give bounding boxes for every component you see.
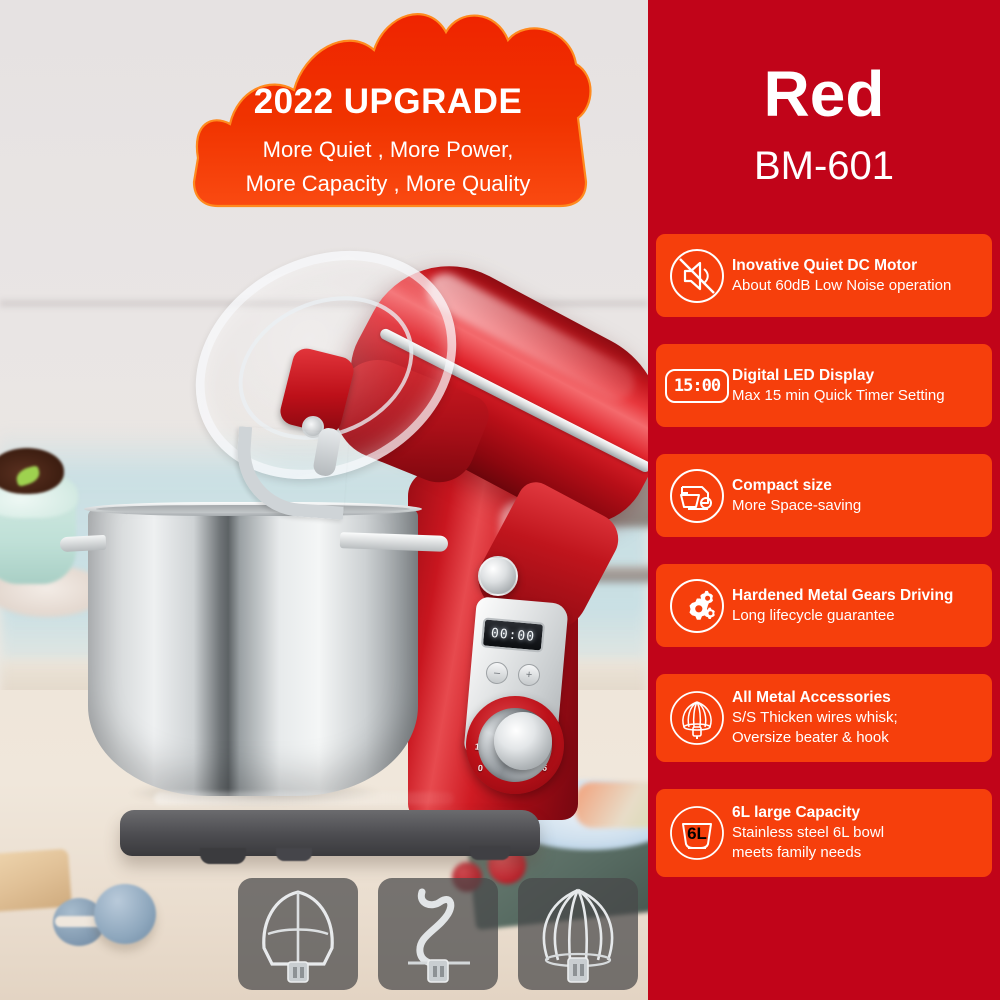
minus-icon: –	[493, 667, 500, 679]
mixer-foot	[276, 848, 312, 861]
head-lock-knob[interactable]	[478, 556, 518, 596]
product-marketing-image: 00:00 – + 0 1 2 3 4 5 6	[0, 0, 1000, 1000]
whisk-icon	[662, 683, 732, 753]
feature-card-list: Inovative Quiet DC Motor About 60dB Low …	[648, 234, 1000, 904]
speed-dial-knob[interactable]	[494, 712, 552, 770]
feature-detail: About 60dB Low Noise operation	[732, 276, 986, 296]
feature-detail: S/S Thicken wires whisk;	[732, 708, 986, 728]
product-color-title: Red	[648, 62, 1000, 126]
gears-icon	[662, 571, 732, 641]
feature-heading: 6L large Capacity	[732, 803, 986, 823]
feature-heading: Hardened Metal Gears Driving	[732, 586, 986, 606]
product-model-number: BM-601	[648, 146, 1000, 186]
bowl-capacity-icon: 6L	[662, 798, 732, 868]
feature-text: 6L large Capacity Stainless steel 6L bow…	[732, 803, 992, 862]
flat-beater-icon	[238, 878, 358, 990]
accessory-thumb-wire-whisk[interactable]	[518, 878, 638, 990]
upgrade-banner: 2022 UPGRADE More Quiet , More Power, Mo…	[178, 6, 598, 218]
dough-hook-icon	[378, 878, 498, 990]
timer-display-value: 00:00	[490, 626, 535, 645]
feature-card-metal-accessories: All Metal Accessories S/S Thicken wires …	[656, 674, 992, 762]
led-timer-icon-value: 15:00	[674, 376, 720, 396]
plus-icon: +	[525, 669, 532, 682]
mixer-foot	[470, 846, 510, 860]
feature-text: Compact size More Space-saving	[732, 476, 992, 516]
feature-text: Hardened Metal Gears Driving Long lifecy…	[732, 586, 992, 626]
feature-text: Digital LED Display Max 15 min Quick Tim…	[732, 366, 992, 406]
banner-title: 2022 UPGRADE	[178, 82, 598, 122]
feature-text: Inovative Quiet DC Motor About 60dB Low …	[732, 256, 992, 296]
led-timer-icon: 15:00	[662, 351, 732, 421]
feature-detail-secondary: meets family needs	[732, 843, 986, 863]
feature-heading: All Metal Accessories	[732, 688, 986, 708]
bowl-capacity-value: 6L	[687, 824, 707, 843]
feature-text: All Metal Accessories S/S Thicken wires …	[732, 688, 992, 747]
feature-detail: More Space-saving	[732, 496, 986, 516]
timer-display: 00:00	[481, 617, 545, 652]
feature-card-led-display: 15:00 Digital LED Display Max 15 min Qui…	[656, 344, 992, 427]
muted-speaker-icon	[662, 241, 732, 311]
banner-copy: 2022 UPGRADE More Quiet , More Power, Mo…	[178, 6, 598, 218]
feature-panel: Red BM-601 Inovative Quiet DC Motor Abou…	[648, 0, 1000, 1000]
mixer-foot	[200, 848, 246, 864]
feature-heading: Compact size	[732, 476, 986, 496]
accessory-thumb-flat-beater[interactable]	[238, 878, 358, 990]
banner-subtitle-line-2: More Capacity , More Quality	[178, 171, 598, 197]
feature-card-quiet-motor: Inovative Quiet DC Motor About 60dB Low …	[656, 234, 992, 317]
feature-detail: Max 15 min Quick Timer Setting	[732, 386, 986, 406]
accessory-thumb-dough-hook[interactable]	[378, 878, 498, 990]
feature-heading: Inovative Quiet DC Motor	[732, 256, 986, 276]
feature-detail: Stainless steel 6L bowl	[732, 823, 986, 843]
speed-mark-0: 0	[477, 763, 483, 773]
feature-heading: Digital LED Display	[732, 366, 986, 386]
feature-detail: Long lifecycle guarantee	[732, 606, 986, 626]
banner-subtitle-line-1: More Quiet , More Power,	[178, 137, 598, 163]
bowl-handle-left	[60, 535, 107, 552]
feature-card-compact-size: Compact size More Space-saving	[656, 454, 992, 537]
feature-card-metal-gears: Hardened Metal Gears Driving Long lifecy…	[656, 564, 992, 647]
stand-mixer-icon	[662, 461, 732, 531]
wire-whisk-icon	[518, 878, 638, 990]
feature-card-capacity: 6L 6L large Capacity Stainless steel 6L …	[656, 789, 992, 877]
feature-detail-secondary: Oversize beater & hook	[732, 728, 986, 748]
